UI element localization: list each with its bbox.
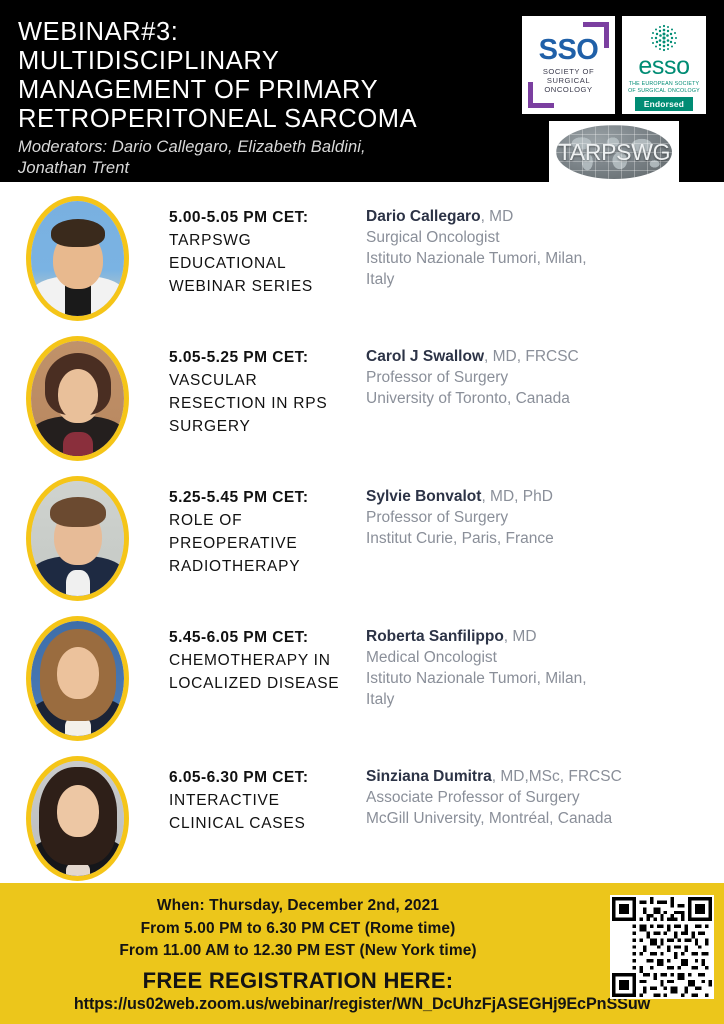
portrait-sylvie-bonvalot: [26, 476, 129, 601]
portrait-sinziana-dumitra: [26, 756, 129, 881]
registration-footer: When: Thursday, December 2nd, 2021 From …: [0, 883, 724, 1024]
person-name: Roberta Sanfilippo: [366, 628, 504, 645]
person-cell: Roberta Sanfilippo, MD Medical Oncologis…: [366, 608, 724, 710]
person-name-line: Dario Callegaro, MD: [366, 206, 716, 227]
talk-cell: 5.05-5.25 PM CET: VASCULAR RESECTION IN …: [131, 328, 366, 438]
person-name: Carol J Swallow: [366, 348, 484, 365]
portrait-dario-callegaro: [26, 196, 129, 321]
talk-cell: 6.05-6.30 PM CET: INTERACTIVE CLINICAL C…: [131, 748, 366, 835]
portrait-cell: [26, 608, 131, 741]
person-role: Surgical Oncologist: [366, 227, 716, 248]
esso-logo-subtitle: The European Society of Surgical Oncolog…: [628, 81, 700, 94]
when-block: When: Thursday, December 2nd, 2021 From …: [18, 895, 578, 963]
moderators-line: Moderators: Dario Callegaro, Elizabeth B…: [18, 137, 518, 179]
registration-heading: FREE REGISTRATION HERE:: [18, 968, 578, 994]
person-cell: Carol J Swallow, MD, FRCSC Professor of …: [366, 328, 724, 409]
sso-bracket-bottom-left-icon: [528, 82, 554, 108]
speaker-row: 5.25-5.45 PM CET: ROLE OF PREOPERATIVE R…: [0, 468, 724, 608]
person-name-line: Roberta Sanfilippo, MD: [366, 626, 716, 647]
portrait-image: [31, 201, 124, 316]
person-name-line: Sylvie Bonvalot, MD, PhD: [366, 486, 716, 507]
person-role: Associate Professor of Surgery: [366, 787, 716, 808]
when-label: When: [157, 897, 200, 914]
portrait-image: [31, 761, 124, 876]
portrait-cell: [26, 328, 131, 461]
talk-title: ROLE OF PREOPERATIVE RADIOTHERAPY: [169, 509, 366, 578]
person-cell: Sylvie Bonvalot, MD, PhD Professor of Su…: [366, 468, 724, 549]
person-affiliation: Istituto Nazionale Tumori, Milan, Italy: [366, 248, 716, 290]
person-cell: Sinziana Dumitra, MD,MSc, FRCSC Associat…: [366, 748, 724, 829]
when-date-line: When: Thursday, December 2nd, 2021: [18, 895, 578, 918]
person-credentials: , MD, FRCSC: [484, 348, 579, 365]
portrait-image: [31, 341, 124, 456]
portrait-roberta-sanfilippo: [26, 616, 129, 741]
logo-row-top: SSO SOCIETY OF SURGICAL ONCOLOGY: [522, 16, 706, 114]
talk-time: 5.05-5.25 PM CET:: [169, 346, 366, 369]
person-credentials: , MD: [481, 208, 514, 225]
when-time-est: From 11.00 AM to 12.30 PM EST (New York …: [18, 940, 578, 963]
person-cell: Dario Callegaro, MD Surgical Oncologist …: [366, 188, 724, 290]
person-credentials: , MD,MSc, FRCSC: [492, 768, 622, 785]
person-role: Professor of Surgery: [366, 367, 716, 388]
portrait-image: [31, 481, 124, 596]
qr-code-svg: [612, 897, 712, 997]
person-role: Professor of Surgery: [366, 507, 716, 528]
esso-logo: esso The European Society of Surgical On…: [622, 16, 706, 114]
person-affiliation: Institut Curie, Paris, France: [366, 528, 716, 549]
person-credentials: , MD, PhD: [481, 488, 552, 505]
talk-cell: 5.25-5.45 PM CET: ROLE OF PREOPERATIVE R…: [131, 468, 366, 578]
talk-time: 5.00-5.05 PM CET:: [169, 206, 366, 229]
person-name-line: Carol J Swallow, MD, FRCSC: [366, 346, 716, 367]
person-affiliation: McGill University, Montréal, Canada: [366, 808, 716, 829]
talk-title: CHEMOTHERAPY IN LOCALIZED DISEASE: [169, 649, 366, 695]
sso-logo: SSO SOCIETY OF SURGICAL ONCOLOGY: [522, 16, 615, 114]
esso-dot-matrix-icon: [647, 23, 681, 53]
person-role: Medical Oncologist: [366, 647, 716, 668]
webinar-poster: WEBINAR#3: MULTIDISCIPLINARY MANAGEMENT …: [0, 0, 724, 1024]
person-affiliation: University of Toronto, Canada: [366, 388, 716, 409]
speaker-row: 5.00-5.05 PM CET: TARPSWG EDUCATIONAL WE…: [0, 188, 724, 328]
talk-cell: 5.45-6.05 PM CET: CHEMOTHERAPY IN LOCALI…: [131, 608, 366, 695]
talk-time: 5.25-5.45 PM CET:: [169, 486, 366, 509]
when-date: : Thursday, December 2nd, 2021: [199, 897, 439, 914]
talk-cell: 5.00-5.05 PM CET: TARPSWG EDUCATIONAL WE…: [131, 188, 366, 298]
person-name: Sylvie Bonvalot: [366, 488, 481, 505]
speaker-list: 5.00-5.05 PM CET: TARPSWG EDUCATIONAL WE…: [0, 182, 724, 883]
person-name: Dario Callegaro: [366, 208, 481, 225]
sso-bracket-top-right-icon: [583, 22, 609, 48]
qr-code-icon[interactable]: [610, 895, 714, 999]
speaker-row: 5.45-6.05 PM CET: CHEMOTHERAPY IN LOCALI…: [0, 608, 724, 748]
portrait-image: [31, 621, 124, 736]
talk-title: TARPSWG EDUCATIONAL WEBINAR SERIES: [169, 229, 366, 298]
portrait-cell: [26, 748, 131, 881]
talk-time: 6.05-6.30 PM CET:: [169, 766, 366, 789]
person-affiliation: Istituto Nazionale Tumori, Milan, Italy: [366, 668, 716, 710]
esso-endorsed-badge: Endorsed: [635, 97, 693, 111]
header-text-block: WEBINAR#3: MULTIDISCIPLINARY MANAGEMENT …: [18, 14, 518, 179]
person-credentials: , MD: [504, 628, 537, 645]
poster-header: WEBINAR#3: MULTIDISCIPLINARY MANAGEMENT …: [0, 0, 724, 182]
tarpswg-logo-word: TARPSWG: [558, 139, 670, 166]
person-name-line: Sinziana Dumitra, MD,MSc, FRCSC: [366, 766, 716, 787]
speaker-row: 6.05-6.30 PM CET: INTERACTIVE CLINICAL C…: [0, 748, 724, 888]
talk-title: VASCULAR RESECTION IN RPS SURGERY: [169, 369, 366, 438]
logo-group: SSO SOCIETY OF SURGICAL ONCOLOGY: [522, 14, 706, 183]
when-time-cet: From 5.00 PM to 6.30 PM CET (Rome time): [18, 918, 578, 941]
portrait-carol-swallow: [26, 336, 129, 461]
globe-icon: TARPSWG: [556, 125, 672, 179]
tarpswg-logo: TARPSWG: [549, 121, 679, 183]
page-title: WEBINAR#3: MULTIDISCIPLINARY MANAGEMENT …: [18, 18, 518, 134]
speaker-row: 5.05-5.25 PM CET: VASCULAR RESECTION IN …: [0, 328, 724, 468]
portrait-cell: [26, 188, 131, 321]
portrait-cell: [26, 468, 131, 601]
talk-time: 5.45-6.05 PM CET:: [169, 626, 366, 649]
esso-logo-word: esso: [638, 54, 689, 79]
person-name: Sinziana Dumitra: [366, 768, 492, 785]
talk-title: INTERACTIVE CLINICAL CASES: [169, 789, 366, 835]
